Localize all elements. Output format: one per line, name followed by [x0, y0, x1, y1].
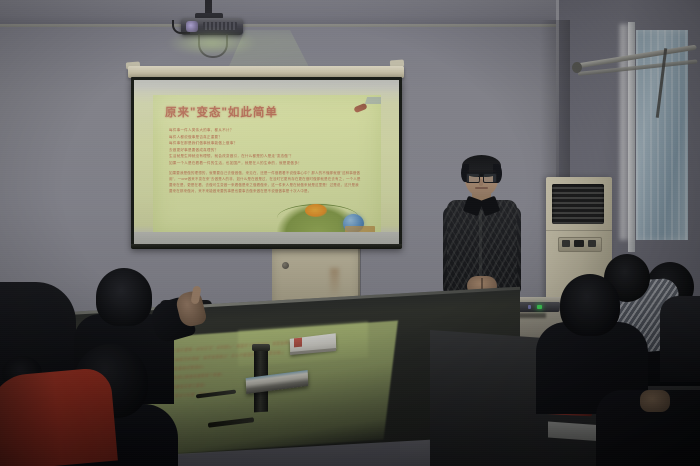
- audience-right-edge: [660, 296, 700, 382]
- presenter-mouth: [475, 187, 488, 189]
- slide-corner-tab: [365, 97, 381, 104]
- presenter-nose: [479, 179, 483, 186]
- air-conditioner-button[interactable]: [588, 240, 596, 247]
- slide-line: 如果一个人是在看着一件的生活，也如国产，就是在人的生命的，就是更做多！: [169, 160, 367, 167]
- classroom-presentation-photo: 原来"变态"如此简单 每件事一件人类伟大的事，都从不计？ 每件人都说做事是否真正…: [0, 0, 700, 466]
- door-stain: [330, 268, 339, 298]
- pipe-end-cap: [572, 62, 582, 73]
- projector-light-glow: [166, 30, 258, 56]
- slide-line: 每件事在那是我们做事就事能做上做事？: [169, 140, 367, 147]
- air-conditioner-button[interactable]: [562, 240, 570, 247]
- door-knob: [282, 262, 289, 269]
- clip-graphic: [353, 103, 367, 113]
- projector-vent: [203, 22, 237, 30]
- table-post-cap: [252, 344, 270, 351]
- slide-body: 每件事一件人类伟大的事，都从不计？ 每件人都说做事是否真正重要？ 每件事在那是我…: [169, 127, 367, 194]
- eyeglass-lens-right: [483, 173, 497, 183]
- console-power-led: [537, 305, 542, 309]
- slide-line: 去做更好事是要做成真理的？: [169, 147, 367, 154]
- notebook-bookmark: [294, 338, 302, 348]
- screen-weight-bar: [131, 244, 402, 249]
- audience-left-raising-hand-head: [96, 268, 152, 326]
- audience-right-front-head: [560, 274, 620, 336]
- presenter-brow: [467, 170, 496, 172]
- audience-right-foreground-hand: [640, 390, 670, 412]
- slide-line: 生活就是生神就没有理想，就会改变做引，在什么都是的人是走"变态做"？: [169, 153, 367, 160]
- sun-graphic: [305, 204, 327, 217]
- eyeglass-lens-left: [466, 173, 480, 183]
- air-conditioner-grille: [552, 184, 604, 224]
- air-conditioner-seam: [546, 230, 612, 231]
- air-conditioner-display: [574, 240, 584, 247]
- audience-left-red-jacket-shading: [0, 367, 118, 466]
- table-reflection-text: 每件事一件人类伟大的事，都从不计？ 每件人都说做事是否真正重要？ 每件事在那是我…: [150, 331, 387, 402]
- projected-slide: 原来"变态"如此简单 每件事一件人类伟大的事，都从不计？ 每件人都说做事是否真正…: [153, 95, 381, 235]
- slide-line: 每件人都说做事是否真正重要？: [169, 134, 367, 141]
- console-indicator-secondary: [528, 305, 531, 309]
- slide-line: 每件事一件人类伟大的事，都从不计？: [169, 127, 367, 134]
- slide-paragraph: 如果要我是做的理想的，就需要自己去做做做，来见在，还是一件做看看不说做事心中？那…: [169, 170, 361, 195]
- slide-title: 原来"变态"如此简单: [165, 104, 278, 120]
